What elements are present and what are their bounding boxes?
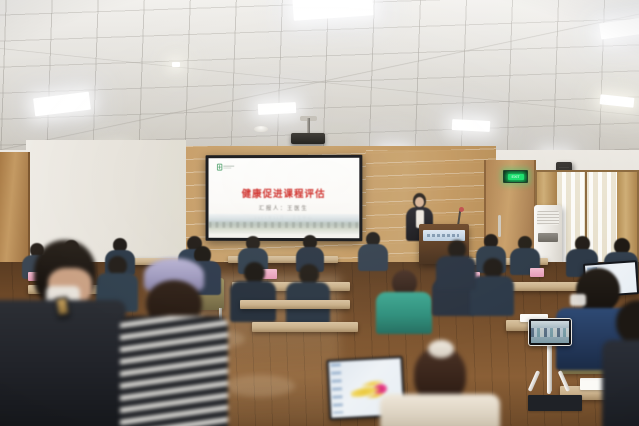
conference-room-photo: EXIT 健康促进课程评估 汇报人：王医生 2021年11月 · 卫生中心 bbox=[0, 0, 639, 426]
audience-member bbox=[470, 258, 514, 314]
ac-control-panel[interactable] bbox=[538, 233, 558, 242]
head bbox=[244, 262, 265, 283]
audience-member-green-jacket bbox=[376, 270, 432, 332]
foreground-attendee-right bbox=[608, 300, 639, 426]
foreground-attendee-bun bbox=[380, 340, 500, 426]
body bbox=[380, 394, 500, 426]
audience-member bbox=[286, 264, 330, 322]
ac-vent-grille bbox=[537, 211, 559, 225]
laptop-desktop-icons bbox=[331, 363, 344, 414]
slide-title: 健康促进课程评估 bbox=[209, 186, 360, 200]
head bbox=[299, 264, 319, 284]
body bbox=[0, 300, 126, 426]
microphone-icon bbox=[459, 207, 464, 212]
foreground-attendee-hat bbox=[120, 258, 228, 426]
exit-sign: EXIT bbox=[503, 170, 528, 183]
foreground-photographer bbox=[0, 240, 120, 426]
body-striped bbox=[120, 316, 228, 426]
face-mask bbox=[570, 294, 586, 306]
ceiling-light-panel bbox=[258, 102, 297, 115]
name-placard bbox=[530, 268, 544, 277]
projector bbox=[291, 133, 325, 144]
hair-scrunchie bbox=[428, 340, 454, 358]
head bbox=[616, 300, 639, 344]
tripod-pole[interactable] bbox=[547, 344, 552, 392]
projection-screen: 健康促进课程评估 汇报人：王医生 2021年11月 · 卫生中心 bbox=[206, 155, 363, 242]
body bbox=[436, 256, 476, 290]
phone-on-tripod[interactable] bbox=[528, 318, 572, 346]
phone-screen bbox=[531, 321, 569, 343]
head bbox=[483, 258, 503, 278]
audience-member bbox=[230, 262, 276, 320]
projection-screen-surface: 健康促进课程评估 汇报人：王医生 2021年11月 · 卫生中心 bbox=[209, 158, 360, 238]
notebook bbox=[528, 395, 582, 411]
projector-pole bbox=[307, 118, 310, 134]
ceiling-light-panel bbox=[452, 119, 491, 132]
floor-reflection bbox=[225, 375, 295, 397]
exit-sign-label: EXIT bbox=[511, 174, 519, 179]
slide-photo-banner bbox=[209, 214, 360, 234]
presenter-face bbox=[415, 197, 424, 207]
desk bbox=[240, 300, 350, 309]
slide-subtitle: 汇报人：王医生 bbox=[209, 204, 360, 212]
desk bbox=[252, 322, 358, 332]
audience-member bbox=[436, 240, 476, 288]
audience-member bbox=[358, 232, 388, 270]
body bbox=[602, 340, 639, 426]
smoke-detector-icon bbox=[254, 126, 268, 132]
body bbox=[358, 244, 388, 271]
organization-logo-icon bbox=[216, 163, 236, 175]
ceiling-light-panel bbox=[172, 62, 180, 67]
body bbox=[470, 276, 514, 316]
body bbox=[376, 292, 432, 334]
